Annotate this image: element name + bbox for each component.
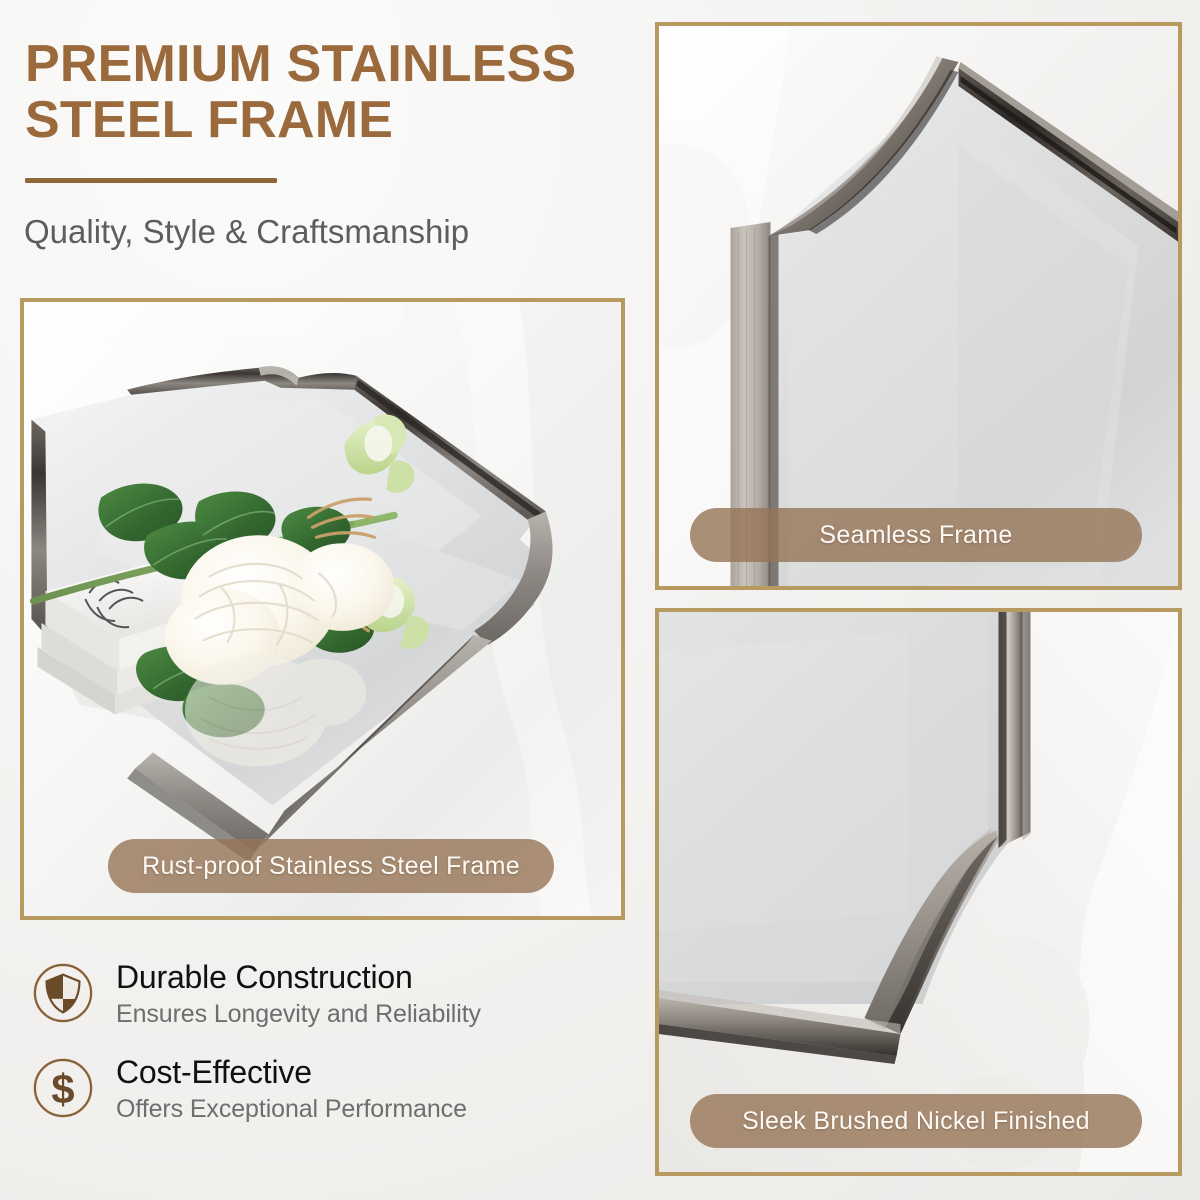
caption-pill-main: Rust-proof Stainless Steel Frame	[108, 839, 554, 893]
page-title: PREMIUM STAINLESS STEEL FRAME	[25, 36, 635, 148]
svg-text:$: $	[51, 1065, 74, 1112]
infographic-canvas: PREMIUM STAINLESS STEEL FRAME Quality, S…	[0, 0, 1200, 1200]
product-photo-bottom-right	[655, 608, 1182, 1176]
title-underline	[25, 178, 277, 183]
mirror-corner-curve-illustration	[659, 612, 1178, 1172]
product-photo-top-right	[655, 22, 1182, 590]
feature-title: Durable Construction	[116, 960, 481, 996]
feature-text: Durable Construction Ensures Longevity a…	[116, 958, 481, 1029]
mirrored-tray-illustration	[24, 302, 621, 916]
page-subtitle: Quality, Style & Craftsmanship	[24, 212, 624, 252]
feature-subtitle: Ensures Longevity and Reliability	[116, 999, 481, 1029]
mirror-corner-scallop-illustration	[659, 26, 1178, 586]
feature-item: Durable Construction Ensures Longevity a…	[32, 958, 612, 1029]
shield-icon	[32, 962, 94, 1024]
feature-item: $ Cost-Effective Offers Exceptional Perf…	[32, 1053, 612, 1124]
feature-list: Durable Construction Ensures Longevity a…	[32, 958, 612, 1148]
caption-pill-top-right: Seamless Frame	[690, 508, 1142, 562]
feature-title: Cost-Effective	[116, 1055, 467, 1091]
caption-pill-bottom-right: Sleek Brushed Nickel Finished	[690, 1094, 1142, 1148]
dollar-icon: $	[32, 1057, 94, 1119]
feature-text: Cost-Effective Offers Exceptional Perfor…	[116, 1053, 467, 1124]
product-photo-main	[20, 298, 625, 920]
feature-subtitle: Offers Exceptional Performance	[116, 1094, 467, 1124]
